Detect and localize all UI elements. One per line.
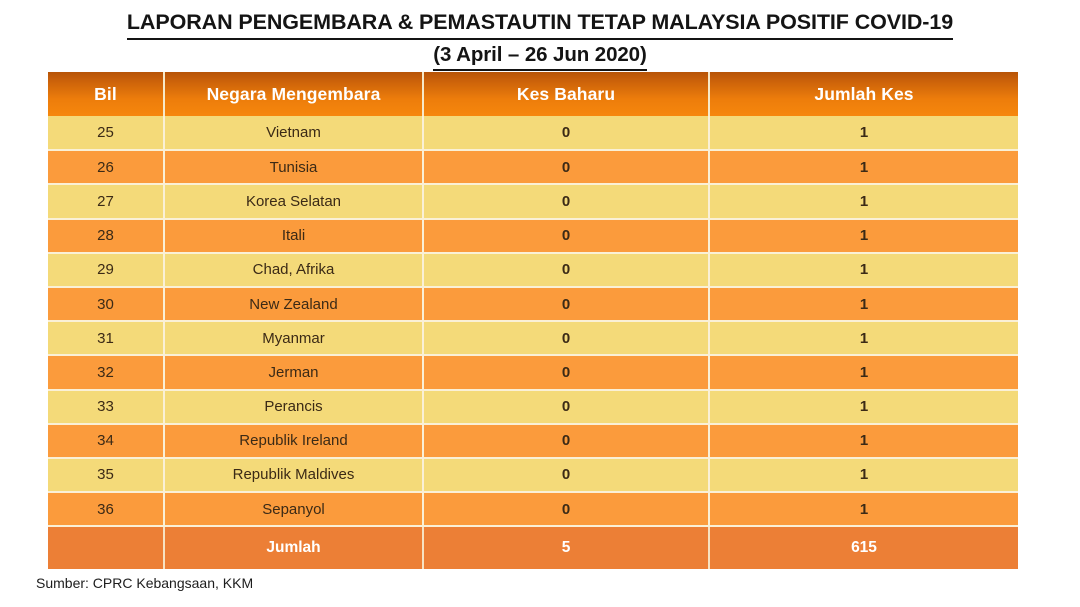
cell-kes-baharu: 0 (423, 219, 709, 253)
cell-kes-baharu: 0 (423, 458, 709, 492)
cell-negara: Tunisia (164, 150, 423, 184)
cell-jumlah-kes: 1 (709, 390, 1018, 424)
cell-kes-baharu: 0 (423, 321, 709, 355)
table-row: 31Myanmar01 (48, 321, 1018, 355)
cell-kes-baharu: 0 (423, 492, 709, 526)
cell-negara: Chad, Afrika (164, 253, 423, 287)
cell-bil: 26 (48, 150, 164, 184)
cell-negara: Sepanyol (164, 492, 423, 526)
table-footer: Jumlah 5 615 (48, 526, 1018, 569)
table-row: 35Republik Maldives01 (48, 458, 1018, 492)
cell-bil: 36 (48, 492, 164, 526)
cell-negara: Itali (164, 219, 423, 253)
page-title: LAPORAN PENGEMBARA & PEMASTAUTIN TETAP M… (0, 0, 1080, 71)
cell-negara: Perancis (164, 390, 423, 424)
total-kes-baharu: 5 (423, 526, 709, 569)
total-empty-cell (48, 526, 164, 569)
cell-negara: New Zealand (164, 287, 423, 321)
table-row: 27Korea Selatan01 (48, 184, 1018, 218)
total-jumlah-kes: 615 (709, 526, 1018, 569)
cell-kes-baharu: 0 (423, 150, 709, 184)
column-header-kes-baharu[interactable]: Kes Baharu (423, 72, 709, 116)
report-table: Bil Negara Mengembara Kes Baharu Jumlah … (48, 72, 1018, 569)
cell-jumlah-kes: 1 (709, 458, 1018, 492)
table-row: 29Chad, Afrika01 (48, 253, 1018, 287)
total-label: Jumlah (164, 526, 423, 569)
table-row: 36Sepanyol01 (48, 492, 1018, 526)
source-note: Sumber: CPRC Kebangsaan, KKM (36, 575, 253, 591)
cell-bil: 31 (48, 321, 164, 355)
table-row: 30New Zealand01 (48, 287, 1018, 321)
cell-kes-baharu: 0 (423, 253, 709, 287)
cell-jumlah-kes: 1 (709, 424, 1018, 458)
cell-bil: 30 (48, 287, 164, 321)
cell-kes-baharu: 0 (423, 424, 709, 458)
table-header-row: Bil Negara Mengembara Kes Baharu Jumlah … (48, 72, 1018, 116)
cell-bil: 27 (48, 184, 164, 218)
cell-kes-baharu: 0 (423, 116, 709, 150)
cell-kes-baharu: 0 (423, 355, 709, 389)
cell-jumlah-kes: 1 (709, 253, 1018, 287)
cell-negara: Republik Maldives (164, 458, 423, 492)
cell-kes-baharu: 0 (423, 390, 709, 424)
table-row: 25Vietnam01 (48, 116, 1018, 150)
title-line-2: (3 April – 26 Jun 2020) (433, 42, 646, 71)
table-body: 25Vietnam0126Tunisia0127Korea Selatan012… (48, 116, 1018, 526)
report-table-container: Bil Negara Mengembara Kes Baharu Jumlah … (48, 72, 1018, 569)
cell-jumlah-kes: 1 (709, 287, 1018, 321)
cell-jumlah-kes: 1 (709, 184, 1018, 218)
table-header: Bil Negara Mengembara Kes Baharu Jumlah … (48, 72, 1018, 116)
table-row: 34Republik Ireland01 (48, 424, 1018, 458)
cell-jumlah-kes: 1 (709, 355, 1018, 389)
table-row: 33Perancis01 (48, 390, 1018, 424)
cell-negara: Vietnam (164, 116, 423, 150)
cell-negara: Korea Selatan (164, 184, 423, 218)
cell-kes-baharu: 0 (423, 184, 709, 218)
cell-jumlah-kes: 1 (709, 116, 1018, 150)
column-header-jumlah-kes[interactable]: Jumlah Kes (709, 72, 1018, 116)
column-header-bil[interactable]: Bil (48, 72, 164, 116)
cell-bil: 33 (48, 390, 164, 424)
table-row: 26Tunisia01 (48, 150, 1018, 184)
cell-negara: Myanmar (164, 321, 423, 355)
cell-jumlah-kes: 1 (709, 492, 1018, 526)
cell-bil: 25 (48, 116, 164, 150)
table-row: 28Itali01 (48, 219, 1018, 253)
cell-jumlah-kes: 1 (709, 219, 1018, 253)
cell-jumlah-kes: 1 (709, 150, 1018, 184)
column-header-negara[interactable]: Negara Mengembara (164, 72, 423, 116)
cell-bil: 35 (48, 458, 164, 492)
total-row: Jumlah 5 615 (48, 526, 1018, 569)
cell-jumlah-kes: 1 (709, 321, 1018, 355)
cell-bil: 32 (48, 355, 164, 389)
cell-kes-baharu: 0 (423, 287, 709, 321)
cell-bil: 34 (48, 424, 164, 458)
cell-bil: 29 (48, 253, 164, 287)
table-row: 32Jerman01 (48, 355, 1018, 389)
cell-negara: Jerman (164, 355, 423, 389)
cell-bil: 28 (48, 219, 164, 253)
title-line-1: LAPORAN PENGEMBARA & PEMASTAUTIN TETAP M… (127, 9, 953, 40)
cell-negara: Republik Ireland (164, 424, 423, 458)
